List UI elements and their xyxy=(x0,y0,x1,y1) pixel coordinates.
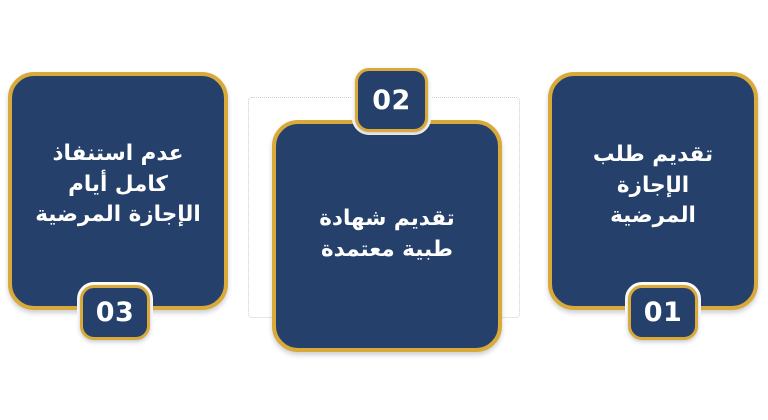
step-card-03[interactable]: عدم استنفاذ كامل أيام الإجازة المرضية xyxy=(8,72,228,310)
infographic-canvas: عدم استنفاذ كامل أيام الإجازة المرضية 03… xyxy=(0,0,768,420)
step-card-02[interactable]: تقديم شهادة طبية معتمدة xyxy=(272,120,502,352)
step-card-01[interactable]: تقديم طلب الإجازة المرضية xyxy=(548,72,758,310)
step-badge-03-number: 03 xyxy=(96,299,135,326)
step-badge-02-number: 02 xyxy=(372,87,411,114)
step-badge-01-number: 01 xyxy=(644,299,683,326)
step-badge-01[interactable]: 01 xyxy=(628,285,698,340)
step-badge-02[interactable]: 02 xyxy=(355,68,428,132)
step-card-03-text: عدم استنفاذ كامل أيام الإجازة المرضية xyxy=(21,139,214,231)
step-badge-03[interactable]: 03 xyxy=(80,285,150,340)
step-card-02-text: تقديم شهادة طبية معتمدة xyxy=(305,204,469,265)
step-card-01-text: تقديم طلب الإجازة المرضية xyxy=(579,140,727,232)
